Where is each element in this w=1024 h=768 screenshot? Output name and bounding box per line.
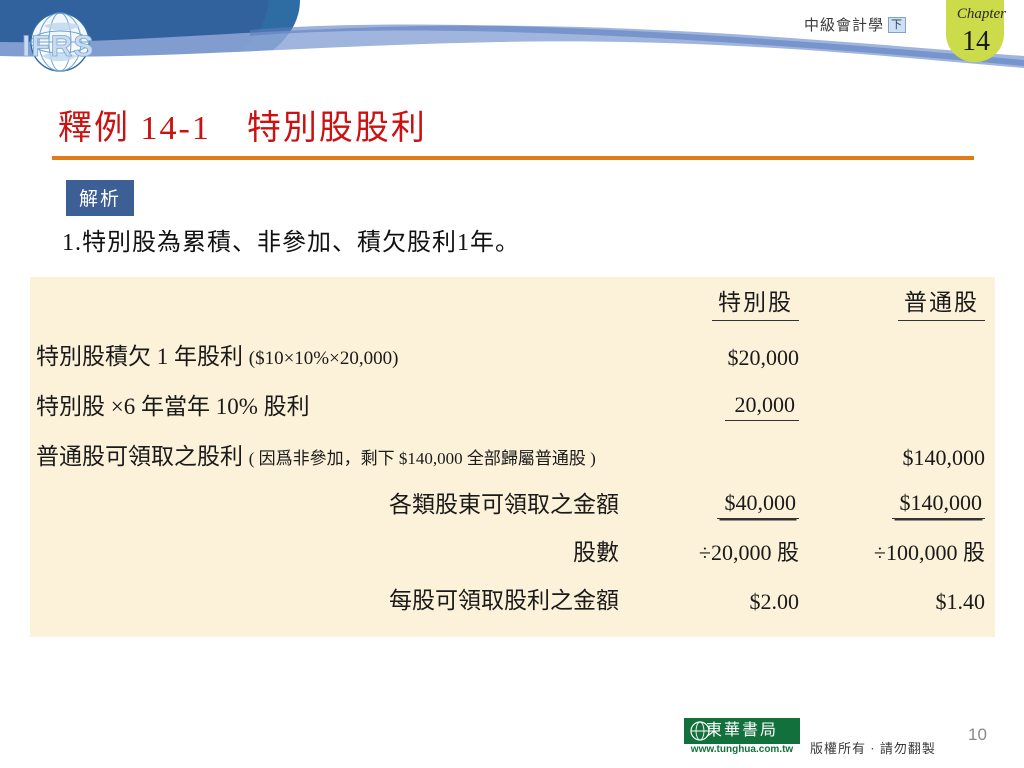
ifrs-logo-text: IFRS: [22, 30, 94, 63]
row-note: ( 因爲非參加，剩下 $140,000 全部歸屬普通股 ): [249, 449, 596, 468]
row-label: 特別股 ×6 年當年 10% 股利: [36, 394, 310, 419]
row-preferred-value: $40,000: [717, 490, 800, 519]
table-row: 股數 ÷20,000 股 ÷100,000 股: [30, 519, 995, 567]
row-common-cell: [813, 321, 995, 371]
table-header-row: 特別股 普通股: [30, 277, 995, 321]
analysis-badge: 解析: [66, 180, 134, 216]
course-title-text: 中級會計學: [804, 18, 884, 34]
row-preferred-value: $2.00: [750, 589, 800, 614]
calculation-panel: 特別股 普通股 特別股積欠 1 年股利 ($10×10%×20,000) $20…: [30, 277, 995, 637]
row-preferred-value: ÷20,000 股: [699, 540, 799, 565]
row-label-cell: 各類股東可領取之金額: [30, 471, 635, 519]
row-common-value: $140,000: [892, 490, 986, 519]
row-label-cell: 每股可領取股利之金額: [30, 567, 635, 615]
course-volume-tag: 下: [888, 17, 906, 33]
row-label-cell: 普通股可領取之股利 ( 因爲非參加，剩下 $140,000 全部歸屬普通股 ): [30, 421, 635, 471]
publisher-globe-icon: [690, 721, 710, 741]
page-number: 10: [968, 725, 987, 745]
row-label: 普通股可領取之股利: [36, 444, 243, 469]
row-preferred-value: 20,000: [725, 392, 800, 421]
header-label-preferred: 特別股: [712, 283, 799, 321]
table-row: 各類股東可領取之金額 $40,000 $140,000: [30, 471, 995, 519]
slide-canvas: IFRS Chapter 14 中級會計學下 釋例 14-1 特別股股利 解析 …: [0, 0, 1024, 768]
row-preferred-cell: 20,000: [635, 371, 813, 421]
row-common-value: ÷100,000 股: [874, 540, 985, 565]
row-preferred-cell: $20,000: [635, 321, 813, 371]
chapter-word-label: Chapter: [957, 6, 1006, 23]
row-label-cell: 股數: [30, 519, 635, 567]
row-label: 特別股積欠 1 年股利: [36, 344, 243, 369]
row-preferred-cell: ÷20,000 股: [635, 519, 813, 567]
row-preferred-cell: $40,000: [635, 471, 813, 519]
row-common-cell: [813, 371, 995, 421]
row-common-value: $1.40: [936, 589, 986, 614]
chapter-number-label: 14: [962, 26, 990, 58]
header-label-common: 普通股: [898, 283, 985, 321]
row-common-cell: ÷100,000 股: [813, 519, 995, 567]
dividend-calculation-table: 特別股 普通股 特別股積欠 1 年股利 ($10×10%×20,000) $20…: [30, 277, 995, 615]
row-label: 各類股東可領取之金額: [389, 492, 619, 517]
row-common-cell: $140,000: [813, 421, 995, 471]
row-preferred-cell: $2.00: [635, 567, 813, 615]
header-banner: IFRS Chapter 14 中級會計學下: [0, 0, 1024, 88]
header-cell-blank: [30, 277, 635, 321]
title-divider: [52, 156, 974, 160]
row-preferred-value: $20,000: [728, 345, 800, 370]
header-cell-preferred: 特別股: [635, 277, 813, 321]
page-title: 釋例 14-1 特別股股利: [58, 100, 427, 149]
table-row: 特別股 ×6 年當年 10% 股利 20,000: [30, 371, 995, 421]
table-row: 普通股可領取之股利 ( 因爲非參加，剩下 $140,000 全部歸屬普通股 ) …: [30, 421, 995, 471]
table-row: 特別股積欠 1 年股利 ($10×10%×20,000) $20,000: [30, 321, 995, 371]
table-row: 每股可領取股利之金額 $2.00 $1.40: [30, 567, 995, 615]
row-label: 每股可領取股利之金額: [389, 588, 619, 613]
row-note: ($10×10%×20,000): [249, 348, 399, 369]
row-common-value: $140,000: [903, 445, 986, 470]
ifrs-logo: IFRS: [14, 6, 134, 78]
row-label-cell: 特別股積欠 1 年股利 ($10×10%×20,000): [30, 321, 635, 371]
analysis-line-1: 1.特別股為累積、非參加、積欠股利1年。: [62, 222, 520, 257]
row-common-cell: $1.40: [813, 567, 995, 615]
row-common-cell: $140,000: [813, 471, 995, 519]
row-label: 股數: [573, 540, 619, 565]
course-title: 中級會計學下: [804, 14, 906, 35]
header-cell-common: 普通股: [813, 277, 995, 321]
row-preferred-cell: [635, 421, 813, 471]
publisher-url: www.tunghua.com.tw: [684, 744, 800, 755]
copyright-notice: 版權所有 · 請勿翻製: [810, 738, 936, 757]
row-label-cell: 特別股 ×6 年當年 10% 股利: [30, 371, 635, 421]
table-body: 特別股積欠 1 年股利 ($10×10%×20,000) $20,000 特別股…: [30, 321, 995, 615]
